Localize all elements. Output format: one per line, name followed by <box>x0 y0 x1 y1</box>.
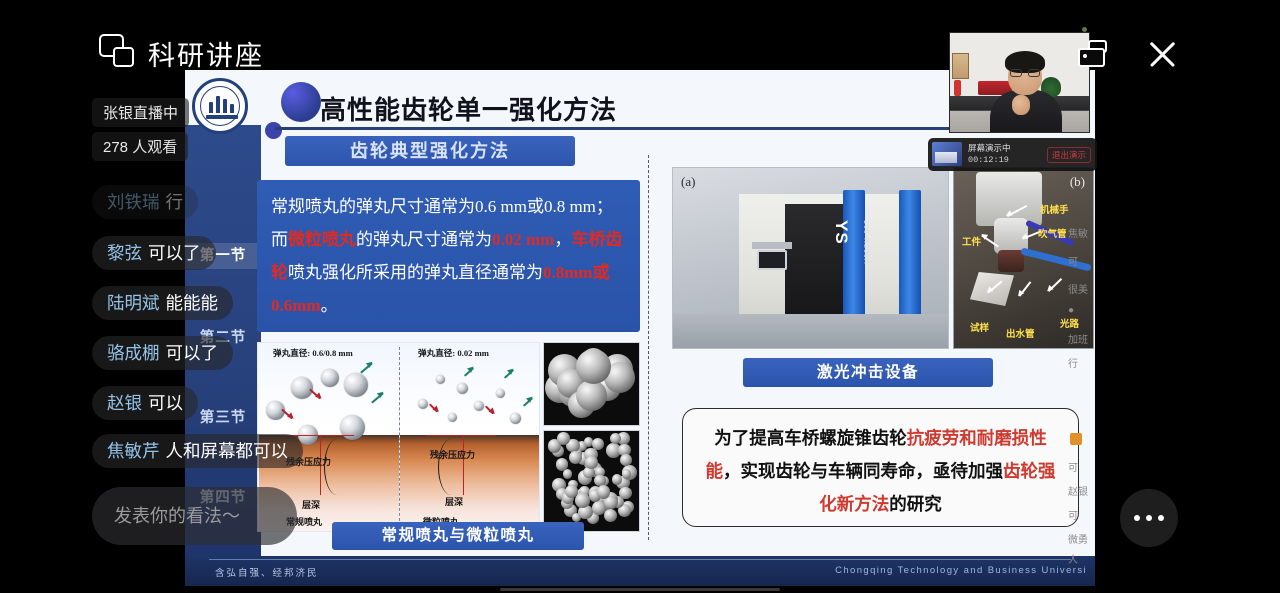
rail-chat-line: 赵银 <box>1068 483 1098 498</box>
chat-nickname: 刘铁瑞 <box>107 192 160 212</box>
annotation-arrow <box>1048 278 1062 292</box>
chat-nickname: 黎弦 <box>107 243 142 263</box>
photo-b-tag: (b) <box>1070 174 1085 190</box>
rail-chat-line: 很美 <box>1068 281 1098 296</box>
chat-message: 骆成棚可以了 <box>92 336 233 370</box>
label-specimen: 试样 <box>970 320 989 334</box>
slide-center-divider <box>648 155 649 540</box>
chat-text: 可以 <box>148 393 183 413</box>
sem-particle <box>612 474 623 485</box>
body-text: 的研究 <box>889 494 942 514</box>
picture-in-picture-icon[interactable] <box>99 34 137 72</box>
label-workpiece: 工件 <box>962 234 981 248</box>
chat-message: 焦敏芹人和屏幕都可以 <box>92 434 303 468</box>
comment-input[interactable]: 发表你的看法～ <box>92 487 297 545</box>
rail-chat-line: 加班 <box>1068 331 1098 346</box>
chat-nickname: 赵银 <box>107 393 142 413</box>
home-indicator <box>500 588 780 591</box>
photo-laser-shock-equipment: YS 100-R200A (a) <box>672 167 949 349</box>
chat-text: 可以了 <box>148 243 201 263</box>
caption-laser-equipment: 激光冲击设备 <box>743 358 993 387</box>
rail-chat-line: 微勇 <box>1068 531 1098 546</box>
camera-indicator-dot <box>1082 27 1087 32</box>
laser-nozzle <box>998 250 1024 272</box>
annotation-arrow <box>1019 281 1032 296</box>
sem-particle <box>575 493 590 508</box>
live-lecture-window: 第一节 第二节 第三节 第四节 高性能齿轮单一强化方法 齿轮典型强化方法 常规喷… <box>0 0 1280 593</box>
restore-window-icon[interactable] <box>1078 40 1112 68</box>
sem-particle <box>585 456 598 469</box>
chat-nickname: 骆成棚 <box>107 343 160 363</box>
chat-nickname: 陆明斌 <box>107 293 160 313</box>
rail-chat-line: 可 <box>1068 459 1098 474</box>
footer-university: Chongqing Technology and Business Univer… <box>835 565 1087 576</box>
conclusion-box: 为了提高车桥螺旋锥齿轮抗疲劳和耐磨损性能，实现齿轮与车辆同寿命，亟待加强齿轮强化… <box>682 408 1079 527</box>
machine-hmi-screen <box>757 250 787 270</box>
chat-text: 行 <box>166 192 184 212</box>
chat-message: 陆明斌能能能 <box>92 286 233 320</box>
body-text: 为了提高车桥螺旋锥齿轮 <box>714 428 907 448</box>
machine-control-panel <box>752 242 792 249</box>
chat-text: 可以了 <box>166 343 219 363</box>
presentation-status-text: 屏幕演示中 <box>968 142 1011 154</box>
label-air-tube: 吹气管 <box>1038 226 1067 240</box>
rail-chat-line: ● <box>1068 305 1098 316</box>
body-text: ，实现齿轮与车辆同寿命，亟待加强 <box>723 461 1003 481</box>
factory-floor <box>673 314 948 348</box>
sem-particle <box>619 487 631 499</box>
rail-user-badge-icon <box>1070 433 1082 445</box>
sem-particle <box>576 380 607 411</box>
chat-message: 刘铁瑞行 <box>92 185 198 219</box>
sem-particle <box>604 509 617 522</box>
close-icon[interactable] <box>1146 38 1179 71</box>
chat-message: 黎弦可以了 <box>92 236 216 270</box>
label-outlet-pipe: 出水管 <box>1006 326 1035 340</box>
sem-particle <box>556 458 568 470</box>
machine-model-label: YS <box>831 220 851 245</box>
presentation-thumbnail <box>932 142 962 166</box>
exit-presentation-button[interactable]: 退出演示 <box>1047 147 1091 163</box>
person-hand <box>1012 95 1030 115</box>
sem-image-fine-shot <box>543 430 640 532</box>
sem-particle <box>576 349 611 384</box>
window-title-bar: 科研讲座 <box>0 0 1280 88</box>
presentation-elapsed-time: 00:12:19 <box>968 155 1009 165</box>
machine-model-sublabel: 100-R200A <box>862 220 869 264</box>
page-title: 科研讲座 <box>148 34 264 73</box>
sem-particle <box>557 432 570 445</box>
more-options-button[interactable] <box>1120 489 1178 547</box>
chat-nickname: 焦敏芹 <box>107 441 160 461</box>
sem-image-coarse-shot <box>543 342 640 426</box>
rail-chat-line: 可 <box>1068 253 1098 268</box>
collapsed-chat-rail[interactable]: 焦敏 可 很美 ● 加班 行 可 赵银 可 微勇 人 <box>1068 225 1098 565</box>
rebound-arrow <box>523 397 533 407</box>
rail-chat-line: 行 <box>1068 355 1098 370</box>
body-text: ， <box>554 230 571 249</box>
host-live-status: 张银直播中 <box>92 98 189 127</box>
chat-text: 能能能 <box>166 293 219 313</box>
photo-a-tag: (a) <box>681 174 695 190</box>
sem-particle <box>620 454 632 466</box>
chat-overlay: 张银直播中 278 人观看 刘铁瑞行 黎弦可以了 陆明斌能能能 骆成棚可以了 赵… <box>0 0 520 593</box>
chat-message: 赵银可以 <box>92 386 198 420</box>
chat-text: 人和屏幕都可以 <box>166 441 289 461</box>
presentation-status-pill: 屏幕演示中 00:12:19 退出演示 <box>928 138 1097 171</box>
rail-chat-line: 焦敏 <box>1068 225 1098 240</box>
label-robot-arm: 机械手 <box>1040 202 1069 216</box>
rail-chat-line: 可 <box>1068 507 1098 522</box>
rail-chat-line: 人 <box>1068 551 1098 566</box>
viewer-count: 278 人观看 <box>92 132 188 161</box>
